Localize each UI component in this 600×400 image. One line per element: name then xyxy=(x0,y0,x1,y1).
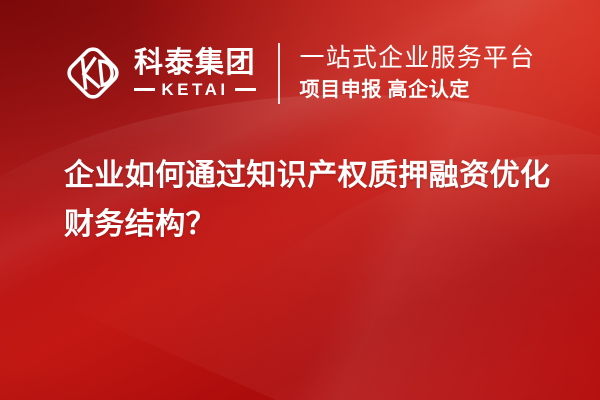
logo-wordmark: 科泰集团 KETAI xyxy=(134,48,256,98)
logo-company-name-cn: 科泰集团 xyxy=(134,48,256,78)
vertical-divider-icon xyxy=(278,43,280,104)
logo-company-name-en: KETAI xyxy=(161,81,228,98)
tagline-block: 一站式企业服务平台 项目申报 高企认定 xyxy=(300,44,536,103)
logo-latin-row: KETAI xyxy=(134,81,256,98)
banner-header: 科泰集团 KETAI 一站式企业服务平台 项目申报 高企认定 xyxy=(62,38,535,108)
ketai-diamond-monogram-icon[interactable] xyxy=(62,42,124,104)
page-title: 企业如何通过知识产权质押融资优化财务结构？ xyxy=(64,152,572,249)
logo-dash-left-icon xyxy=(134,88,155,91)
tagline-secondary: 项目申报 高企认定 xyxy=(300,78,536,102)
promo-banner: 科泰集团 KETAI 一站式企业服务平台 项目申报 高企认定 企业如何通过知识产… xyxy=(0,0,600,400)
logo-dash-right-icon xyxy=(235,88,256,91)
tagline-primary: 一站式企业服务平台 xyxy=(300,44,536,73)
